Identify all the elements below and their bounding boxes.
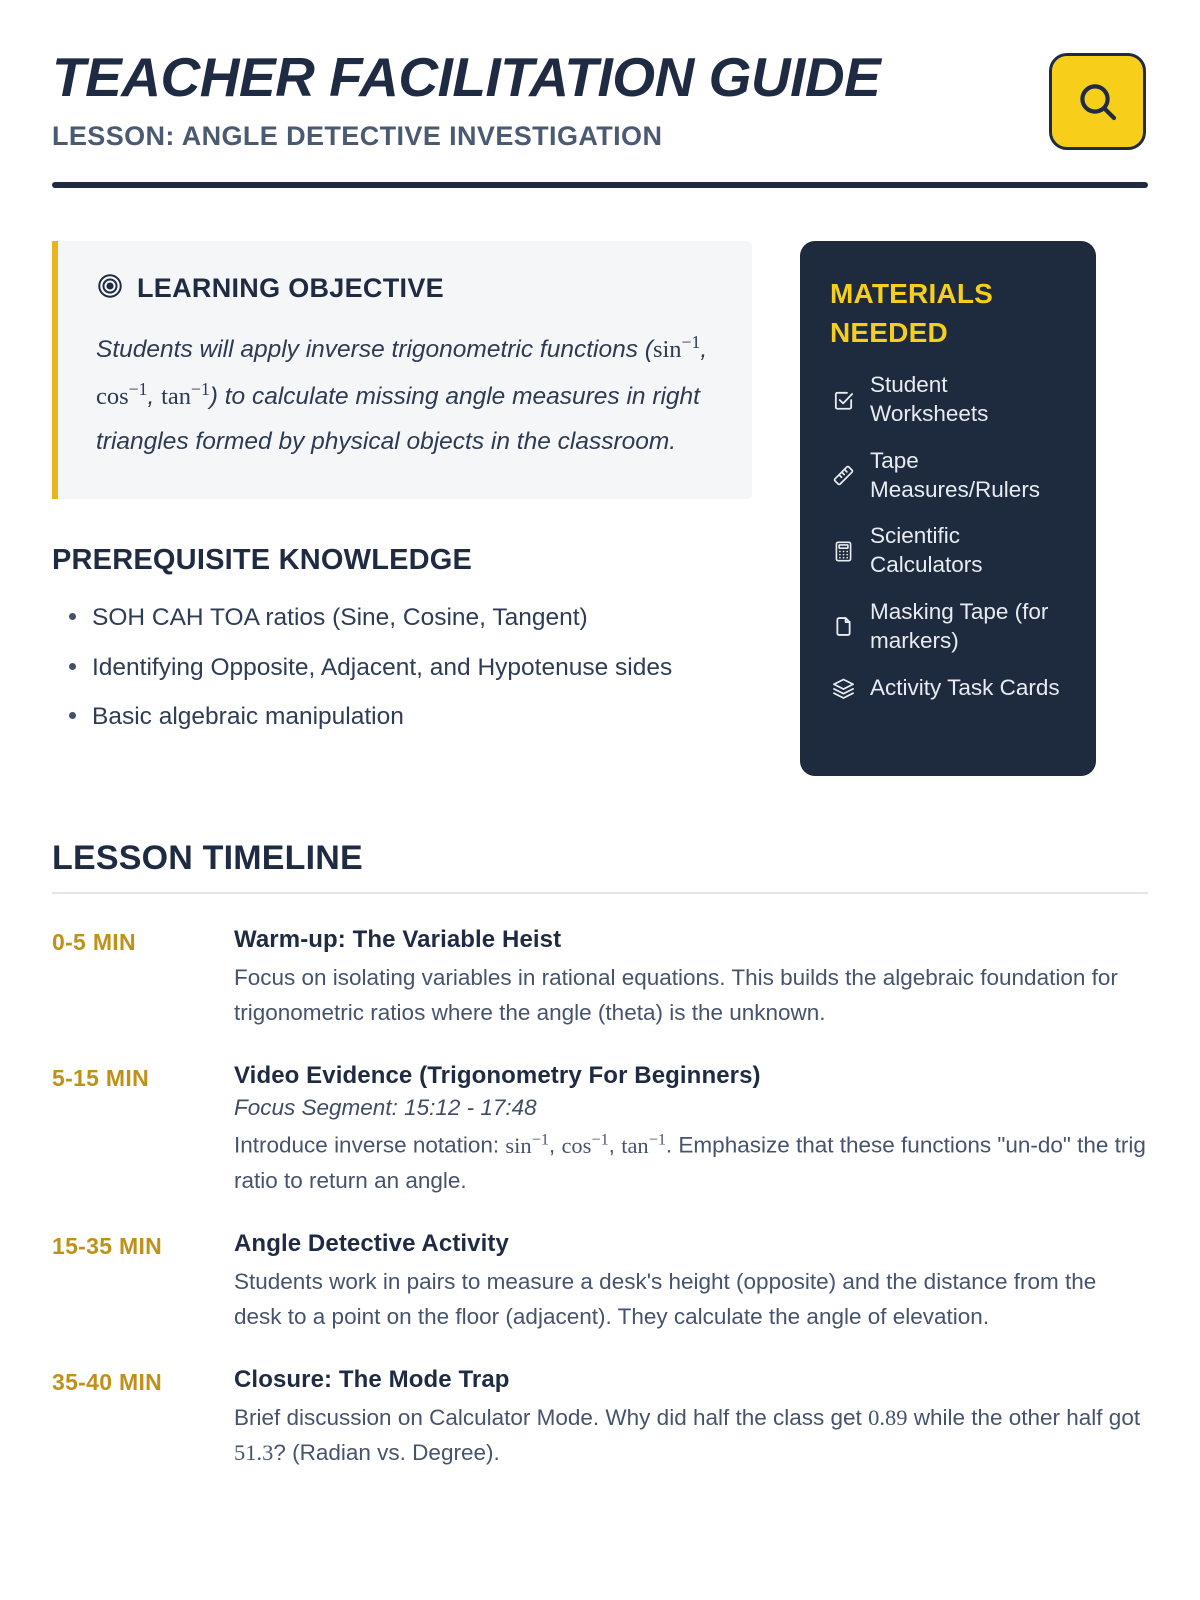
- timeline-row: 15-35 MIN Angle Detective Activity Stude…: [52, 1230, 1148, 1334]
- math-sin-label: sin: [505, 1133, 531, 1158]
- materials-card: MATERIALS NEEDED Student Worksheets: [800, 241, 1096, 776]
- math-tan-exponent: −1: [649, 1130, 666, 1148]
- page-title: TEACHER FACILITATION GUIDE: [52, 50, 880, 105]
- math-arccos: cos−1: [96, 383, 147, 410]
- list-item: Student Worksheets: [830, 371, 1070, 429]
- math-arctan: tan−1: [161, 383, 210, 410]
- material-label: Student Worksheets: [870, 371, 1070, 429]
- math-sin-exponent: −1: [532, 1130, 549, 1148]
- list-item: SOH CAH TOA ratios (Sine, Cosine, Tangen…: [52, 598, 752, 638]
- layers-icon: [830, 677, 856, 700]
- learning-objective-header: LEARNING OBJECTIVE: [96, 272, 718, 305]
- list-item: Basic algebraic manipulation: [52, 697, 752, 737]
- learning-objective-title: LEARNING OBJECTIVE: [137, 273, 444, 304]
- header-text-block: TEACHER FACILITATION GUIDE LESSON: ANGLE…: [52, 46, 880, 152]
- learning-objective-text: Students will apply inverse trigonometri…: [96, 326, 718, 465]
- page-header: TEACHER FACILITATION GUIDE LESSON: ANGLE…: [52, 46, 1148, 152]
- timeline-desc-b: while the other half got: [907, 1405, 1140, 1430]
- timeline-divider: [52, 892, 1148, 894]
- search-icon: [1074, 78, 1122, 126]
- right-column: MATERIALS NEEDED Student Worksheets: [800, 241, 1096, 776]
- facilitation-guide-page: TEACHER FACILITATION GUIDE LESSON: ANGLE…: [0, 0, 1200, 1600]
- timeline-description: Brief discussion on Calculator Mode. Why…: [234, 1400, 1148, 1470]
- timeline-content: Warm-up: The Variable Heist Focus on iso…: [234, 926, 1148, 1030]
- timeline-title: Video Evidence (Trigonometry For Beginne…: [234, 1062, 1148, 1090]
- math-cos-exponent: −1: [591, 1130, 608, 1148]
- math-sin-exponent: −1: [682, 332, 701, 352]
- timeline-title: Warm-up: The Variable Heist: [234, 926, 1148, 954]
- timeline-heading: LESSON TIMELINE: [52, 839, 1148, 878]
- prerequisite-heading: PREREQUISITE KNOWLEDGE: [52, 544, 752, 577]
- list-item: Masking Tape (for markers): [830, 598, 1070, 656]
- math-arccos: cos−1: [561, 1133, 608, 1158]
- list-item: Tape Measures/Rulers: [830, 447, 1070, 505]
- math-tan-label: tan: [621, 1133, 649, 1158]
- material-label: Tape Measures/Rulers: [870, 447, 1070, 505]
- timeline-description: Focus on isolating variables in rational…: [234, 960, 1148, 1030]
- timeline-desc-pre: Introduce inverse notation:: [234, 1133, 505, 1158]
- file-icon: [830, 615, 856, 638]
- materials-title: MATERIALS NEEDED: [830, 275, 1070, 352]
- target-icon: [96, 272, 124, 305]
- timeline-focus-segment: Focus Segment: 15:12 - 17:48: [234, 1095, 1148, 1121]
- math-arctan: tan−1: [621, 1133, 666, 1158]
- timeline-description: Students work in pairs to measure a desk…: [234, 1264, 1148, 1334]
- timeline-row: 35-40 MIN Closure: The Mode Trap Brief d…: [52, 1366, 1148, 1470]
- prerequisite-list: SOH CAH TOA ratios (Sine, Cosine, Tangen…: [52, 598, 752, 737]
- calculator-icon: [830, 540, 856, 563]
- math-cos-exponent: −1: [129, 379, 148, 399]
- material-label: Scientific Calculators: [870, 522, 1070, 580]
- header-divider: [52, 182, 1148, 188]
- objective-text-part1: Students will apply inverse trigonometri…: [96, 336, 653, 363]
- timeline-row: 5-15 MIN Video Evidence (Trigonometry Fo…: [52, 1062, 1148, 1198]
- math-cos-label: cos: [561, 1133, 591, 1158]
- timeline-title: Closure: The Mode Trap: [234, 1366, 1148, 1394]
- timeline-title: Angle Detective Activity: [234, 1230, 1148, 1258]
- timeline-time: 5-15 MIN: [52, 1062, 234, 1198]
- check-square-icon: [830, 389, 856, 412]
- math-arcsin: sin−1: [505, 1133, 549, 1158]
- material-label: Activity Task Cards: [870, 674, 1070, 703]
- list-item: Scientific Calculators: [830, 522, 1070, 580]
- timeline-content: Video Evidence (Trigonometry For Beginne…: [234, 1062, 1148, 1198]
- left-column: LEARNING OBJECTIVE Students will apply i…: [52, 241, 752, 747]
- timeline-time: 15-35 MIN: [52, 1230, 234, 1334]
- list-item: Activity Task Cards: [830, 674, 1070, 703]
- math-arcsin: sin−1: [653, 336, 700, 363]
- ruler-icon: [830, 464, 856, 487]
- list-item: Identifying Opposite, Adjacent, and Hypo…: [52, 648, 752, 688]
- timeline-desc-c: ? (Radian vs. Degree).: [273, 1440, 499, 1465]
- timeline-content: Angle Detective Activity Students work i…: [234, 1230, 1148, 1334]
- top-columns: LEARNING OBJECTIVE Students will apply i…: [52, 241, 1148, 776]
- timeline-desc-a: Brief discussion on Calculator Mode. Why…: [234, 1405, 868, 1430]
- timeline-description: Introduce inverse notation: sin−1, cos−1…: [234, 1127, 1148, 1198]
- search-button[interactable]: [1049, 53, 1146, 150]
- timeline-content: Closure: The Mode Trap Brief discussion …: [234, 1366, 1148, 1470]
- material-label: Masking Tape (for markers): [870, 598, 1070, 656]
- math-value-radian: 0.89: [868, 1405, 907, 1430]
- timeline-row: 0-5 MIN Warm-up: The Variable Heist Focu…: [52, 926, 1148, 1030]
- learning-objective-card: LEARNING OBJECTIVE Students will apply i…: [52, 241, 752, 499]
- materials-list: Student Worksheets Tape Measures/Rulers: [830, 371, 1070, 702]
- math-tan-label: tan: [161, 383, 191, 410]
- timeline-time: 0-5 MIN: [52, 926, 234, 1030]
- math-value-degree: 51.3: [234, 1440, 273, 1465]
- math-cos-label: cos: [96, 383, 129, 410]
- math-tan-exponent: −1: [191, 379, 210, 399]
- timeline-time: 35-40 MIN: [52, 1366, 234, 1470]
- page-subtitle: LESSON: ANGLE DETECTIVE INVESTIGATION: [52, 121, 880, 152]
- math-sin-label: sin: [653, 336, 682, 363]
